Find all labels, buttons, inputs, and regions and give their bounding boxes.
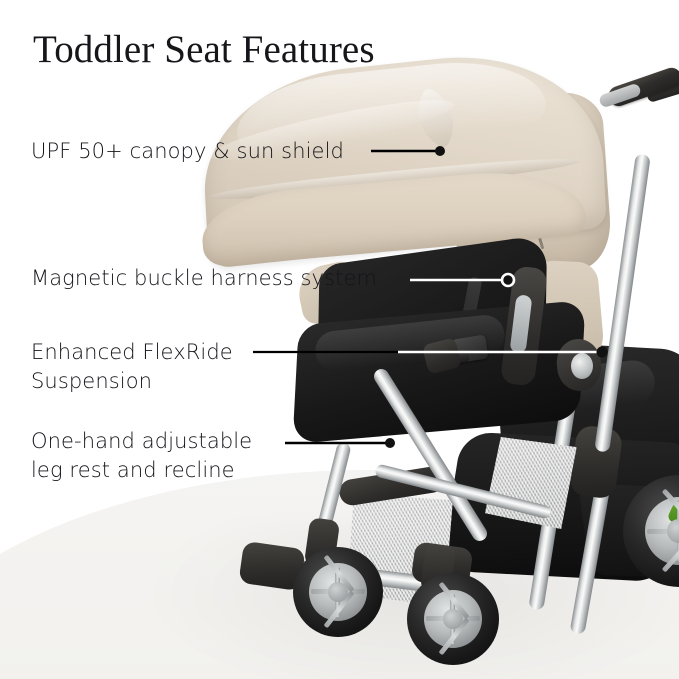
feature-label-flexride-suspension: Enhanced FlexRide Suspension — [31, 338, 233, 396]
front-wheel-right-hubcap — [443, 609, 463, 629]
feature-label-leg-rest-recline: One-hand adjustable leg rest and recline — [31, 427, 252, 485]
front-wheel-left-hubcap — [328, 582, 348, 602]
feature-label-magnetic-buckle: Magnetic buckle harness system — [31, 264, 377, 293]
feature-label-upf-canopy: UPF 50+ canopy & sun shield — [31, 137, 344, 166]
page-title: Toddler Seat Features — [33, 27, 375, 72]
recline-button — [571, 353, 593, 379]
infographic-stage: Toddler Seat Features UPF 50+ canopy & s… — [0, 0, 679, 679]
